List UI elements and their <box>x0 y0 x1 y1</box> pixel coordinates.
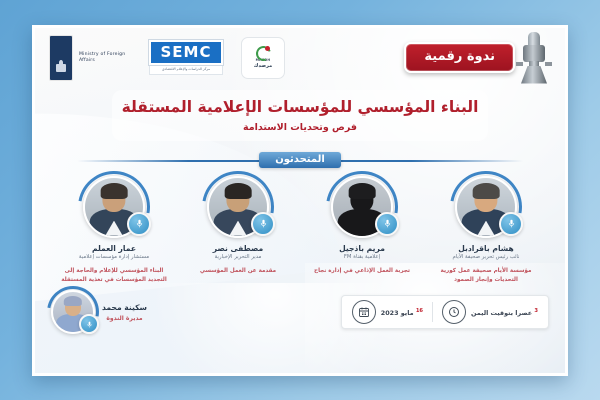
logo-semc: SEMC مركز الدراسات والإعلام الاقتصادي <box>149 40 223 74</box>
moderator-text: سكينة محمد مديرة الندوة <box>102 303 147 322</box>
mic-badge-icon <box>79 314 99 334</box>
digital-seminar-zone: ندوة رقمية <box>404 32 551 84</box>
speaker-role: مستشار إدارة مؤسسات إعلامية <box>55 254 173 261</box>
moderator-name: سكينة محمد <box>102 303 147 312</box>
event-time-hour: 3 <box>534 308 538 314</box>
avatar <box>207 176 269 238</box>
microphone-icon <box>519 32 549 84</box>
page-subtitle: فرص وتحديات الاستدامة <box>120 122 480 133</box>
calendar-icon <box>352 300 376 324</box>
speaker-card: عمار العملم مستشار إدارة مؤسسات إعلامية … <box>55 176 173 284</box>
avatar <box>83 176 145 238</box>
speakers-heading-label: المتحدثون <box>259 152 341 168</box>
speakers-heading: المتحدثون <box>35 150 565 170</box>
event-info-bar: 3 عصرا بتوقيت اليمن 16 مايو 2023 <box>341 295 549 329</box>
info-separator <box>432 302 433 322</box>
speaker-topic: مؤسسة الأيام صحيفة عمل كورية التحديات وإ… <box>427 267 545 284</box>
event-time-label: 3 عصرا بتوقيت اليمن <box>471 308 538 317</box>
speaker-role: مدير التحرير الإخبارية <box>179 254 297 261</box>
event-date-day: 16 <box>416 308 423 314</box>
event-date: 16 مايو 2023 <box>347 299 428 325</box>
semc-logo-tagline: مركز الدراسات والإعلام الاقتصادي <box>149 65 223 74</box>
logo-group: Ministry of Foreign Affairs SEMC مركز ال… <box>49 35 285 81</box>
poster-frame: Ministry of Foreign Affairs SEMC مركز ال… <box>0 0 600 400</box>
avatar <box>455 176 517 238</box>
mrsd-logo-arabic: مرصدك <box>254 63 273 69</box>
speaker-card: مريم باذجيل إعلامية بقناة FM تجربة العمل… <box>303 176 421 284</box>
mic-badge-icon <box>251 212 275 236</box>
speaker-name: مريم باذجيل <box>303 244 421 253</box>
avatar <box>331 176 393 238</box>
mic-badge-icon <box>375 212 399 236</box>
page-title: البناء المؤسسي للمؤسسات الإعلامية المستق… <box>120 97 480 117</box>
event-date-label: 16 مايو 2023 <box>381 308 423 317</box>
poster-footer: 3 عصرا بتوقيت اليمن 16 مايو 2023 سكينة م… <box>35 286 565 334</box>
mic-badge-icon <box>499 212 523 236</box>
speaker-topic: تجربة العمل الإذاعي في إدارة نجاح <box>303 267 421 275</box>
avatar <box>51 290 95 334</box>
speaker-name: هشام باقرادبل <box>427 244 545 253</box>
mic-badge-icon <box>127 212 151 236</box>
semc-logo-wordmark: SEMC <box>149 40 223 65</box>
title-card: البناء المؤسسي للمؤسسات الإعلامية المستق… <box>112 90 488 141</box>
poster-header: Ministry of Foreign Affairs SEMC مركز ال… <box>35 28 565 88</box>
speaker-role: نائب رئيس تحرير صحيفة الأيام <box>427 254 545 261</box>
ministry-crest-icon <box>49 35 73 81</box>
speaker-name: مصطفى نصر <box>179 244 297 253</box>
speaker-card: هشام باقرادبل نائب رئيس تحرير صحيفة الأي… <box>427 176 545 284</box>
clock-icon <box>442 300 466 324</box>
digital-seminar-badge: ندوة رقمية <box>404 42 515 73</box>
ministry-logo-label: Ministry of Foreign Affairs <box>79 52 131 63</box>
speaker-name: عمار العملم <box>55 244 173 253</box>
logo-ministry-of-foreign-affairs: Ministry of Foreign Affairs <box>49 35 131 81</box>
logo-mrsd: MRSDH مرصدك <box>241 37 285 79</box>
speaker-card: مصطفى نصر مدير التحرير الإخبارية مقدمة ع… <box>179 176 297 284</box>
speaker-role: إعلامية بقناة FM <box>303 254 421 261</box>
event-time: 3 عصرا بتوقيت اليمن <box>437 299 543 325</box>
moderator-card: سكينة محمد مديرة الندوة <box>51 290 147 334</box>
speaker-topic: البناء المؤسسي للإعلام والحاجة إلى التجد… <box>55 267 173 284</box>
mrsd-swirl-icon <box>256 46 270 57</box>
speakers-list: هشام باقرادبل نائب رئيس تحرير صحيفة الأي… <box>35 176 565 284</box>
seminar-poster: Ministry of Foreign Affairs SEMC مركز ال… <box>32 25 568 376</box>
speaker-topic: مقدمة عن العمل المؤسسي <box>179 267 297 275</box>
moderator-role: مديرة الندوة <box>102 315 147 322</box>
